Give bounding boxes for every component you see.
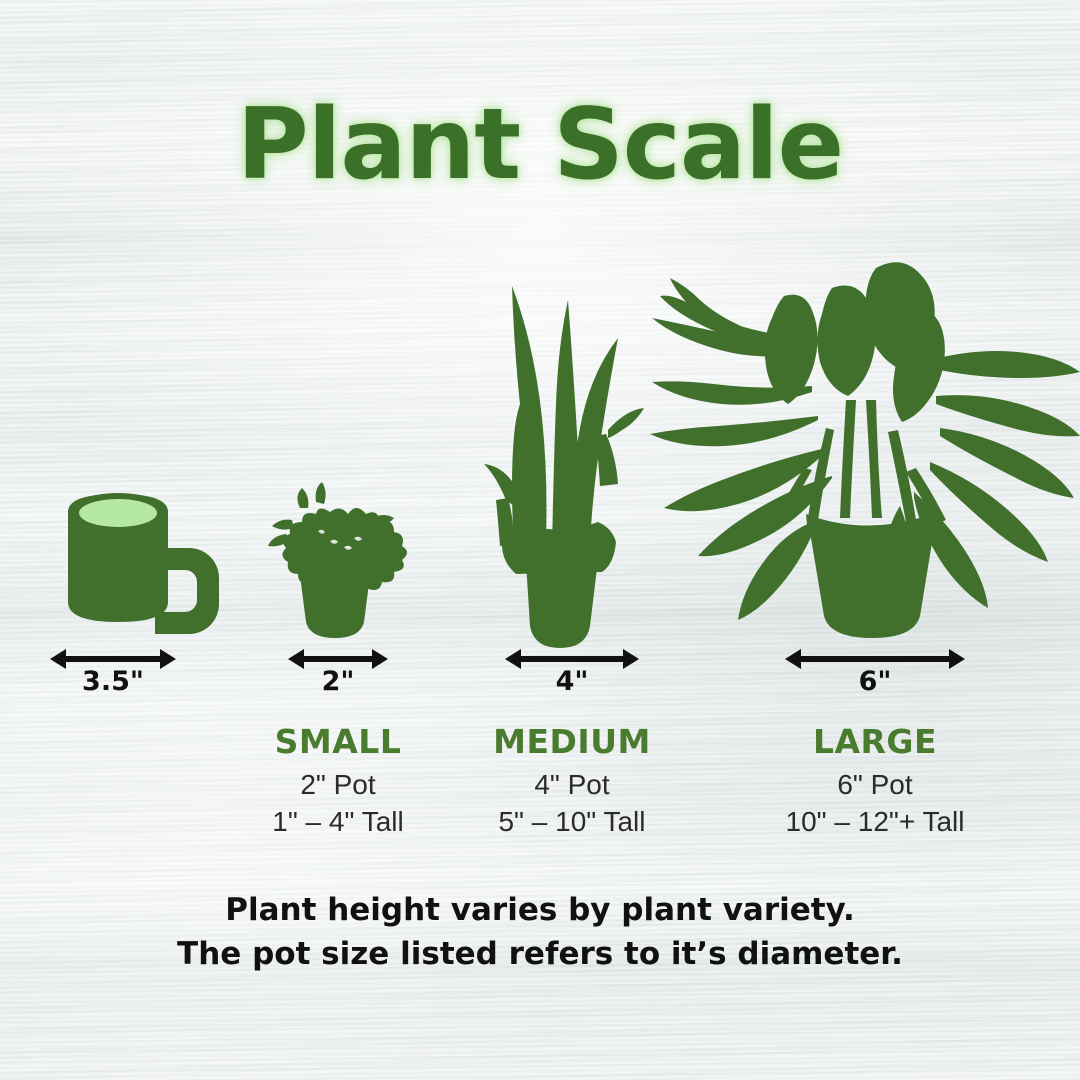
measure-mug: 3.5" [50, 640, 176, 700]
size-name-large: LARGE [750, 722, 1000, 761]
size-pot-medium: 4" Pot [447, 766, 697, 803]
arrow-bar [518, 656, 626, 662]
arrow-bar [63, 656, 163, 662]
size-pot-large: 6" Pot [750, 766, 1000, 803]
size-height-large: 10" – 12"+ Tall [750, 803, 1000, 840]
measure-label-medium: 4" [505, 666, 639, 697]
page-title: Plant Scale [0, 96, 1080, 194]
size-column-small: SMALL 2" Pot 1" – 4" Tall [213, 722, 463, 840]
size-height-small: 1" – 4" Tall [213, 803, 463, 840]
size-pot-small: 2" Pot [213, 766, 463, 803]
plant-scale-infographic: Plant Scale [0, 0, 1080, 1080]
measure-small: 2" [288, 640, 388, 700]
footnote-line-2: The pot size listed refers to it’s diame… [0, 932, 1080, 976]
arrow-bar [301, 656, 375, 662]
size-height-medium: 5" – 10" Tall [447, 803, 697, 840]
size-column-large: LARGE 6" Pot 10" – 12"+ Tall [750, 722, 1000, 840]
arrow-bar [798, 656, 952, 662]
measure-large: 6" [785, 640, 965, 700]
measure-medium: 4" [505, 640, 639, 700]
footnote-line-1: Plant height varies by plant variety. [0, 888, 1080, 932]
size-name-small: SMALL [213, 722, 463, 761]
measure-label-small: 2" [288, 666, 388, 697]
measure-label-large: 6" [785, 666, 965, 697]
measure-label-mug: 3.5" [50, 666, 176, 697]
size-column-medium: MEDIUM 4" Pot 5" – 10" Tall [447, 722, 697, 840]
footnote: Plant height varies by plant variety. Th… [0, 888, 1080, 976]
size-name-medium: MEDIUM [447, 722, 697, 761]
